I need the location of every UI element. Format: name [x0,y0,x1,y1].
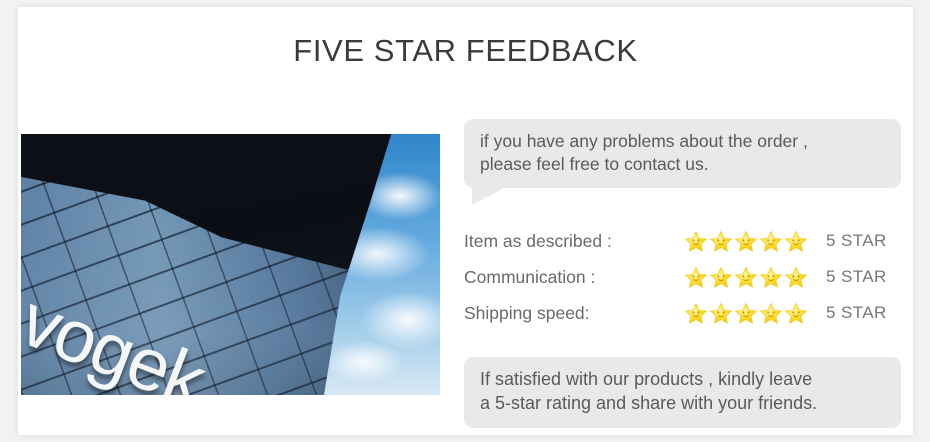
feedback-column: if you have any problems about the order… [446,119,901,428]
satisfaction-message-line-2: a 5-star rating and share with your frie… [480,392,887,416]
star-icon [734,266,758,289]
star-rating-group [684,230,814,253]
rating-label: Item as described : [464,231,684,252]
star-icon [759,302,783,325]
rating-row: Shipping speed: 5 STAR [464,295,901,331]
star-icon [759,230,783,253]
star-icon [709,302,733,325]
ratings-list: Item as described : 5 STAR Communication… [464,223,901,331]
building-photo: vogek [21,134,440,395]
star-icon [734,230,758,253]
satisfaction-message-line-1: If satisfied with our products , kindly … [480,368,887,392]
content-card: FIVE STAR FEEDBACK vogek if you have any… [18,7,913,435]
page-title: FIVE STAR FEEDBACK [18,33,913,69]
star-icon [684,230,708,253]
rating-value: 5 STAR [814,303,887,323]
contact-message-line-2: please feel free to contact us. [480,153,887,176]
star-icon [709,266,733,289]
star-icon [784,230,808,253]
rating-value: 5 STAR [814,231,887,251]
star-icon [734,302,758,325]
star-icon [784,302,808,325]
star-icon [684,266,708,289]
star-icon [684,302,708,325]
star-icon [759,266,783,289]
rating-label: Shipping speed: [464,303,684,324]
contact-message-bubble: if you have any problems about the order… [464,119,901,188]
rating-row: Item as described : 5 STAR [464,223,901,259]
star-rating-group [684,266,814,289]
rating-row: Communication : 5 STAR [464,259,901,295]
rating-value: 5 STAR [814,267,887,287]
contact-message-line-1: if you have any problems about the order… [480,130,887,153]
star-rating-group [684,302,814,325]
star-icon [784,266,808,289]
feedback-banner: FIVE STAR FEEDBACK vogek if you have any… [0,0,930,442]
star-icon [709,230,733,253]
rating-label: Communication : [464,267,684,288]
satisfaction-message-box: If satisfied with our products , kindly … [464,357,901,428]
